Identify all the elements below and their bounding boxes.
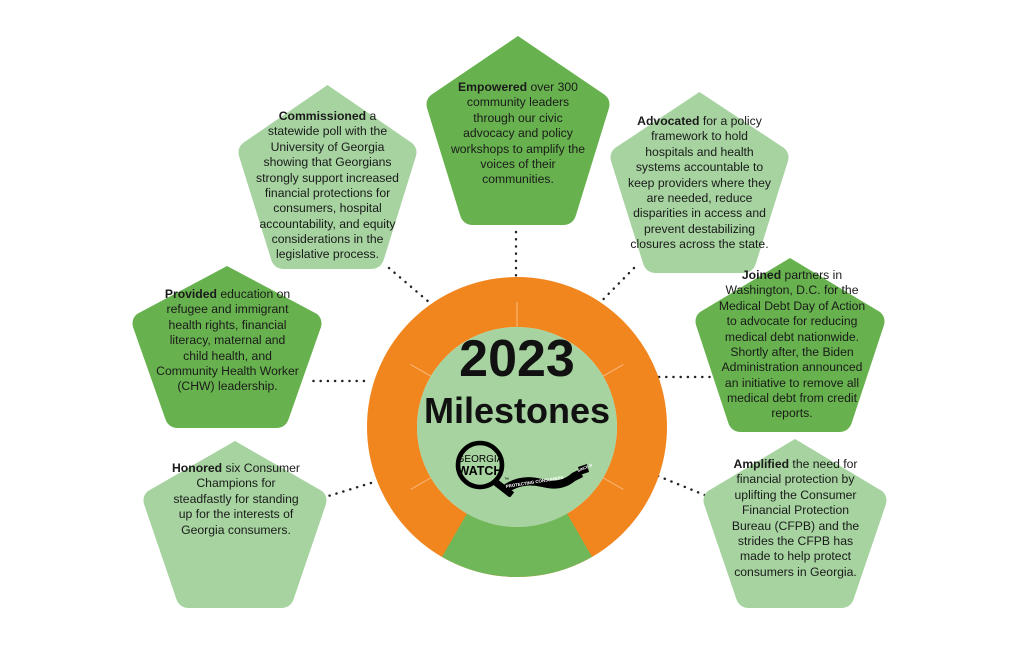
milestone-lead-provided: Provided	[165, 287, 217, 301]
milestone-lead-joined: Joined	[742, 268, 781, 282]
milestone-pentagon-joined[interactable]: Joined partners in Washington, D.C. for …	[692, 254, 888, 439]
hub-year: 2023	[459, 333, 575, 385]
milestone-pentagon-amplified[interactable]: Amplified the need for financial protect…	[700, 435, 890, 615]
milestone-body-commissioned: a statewide poll with the University of …	[256, 109, 399, 261]
milestone-text-provided: Provided education on refugee and immigr…	[156, 287, 299, 395]
milestone-text-commissioned: Commissioned a statewide poll with the U…	[255, 109, 400, 263]
logo-line2: WATCH	[458, 464, 503, 478]
milestone-pentagon-honored[interactable]: Honored six Consumer Champions for stead…	[140, 437, 330, 615]
milestone-text-honored: Honored six Consumer Champions for stead…	[167, 461, 305, 538]
milestone-body-empowered: over 300 community leaders through our c…	[451, 80, 585, 186]
infographic-canvas: Commissioned a statewide poll with the U…	[0, 0, 1024, 652]
milestone-pentagon-provided[interactable]: Provided education on refugee and immigr…	[129, 262, 325, 434]
milestone-lead-commissioned: Commissioned	[279, 109, 366, 123]
milestone-pentagon-commissioned[interactable]: Commissioned a statewide poll with the U…	[235, 81, 420, 276]
milestone-text-joined: Joined partners in Washington, D.C. for …	[718, 268, 866, 422]
georgia-watch-logo: GEORGIA WATCH ™ PROTECTING CONSUMERS SIN…	[442, 439, 592, 497]
milestone-body-joined: partners in Washington, D.C. for the Med…	[719, 268, 865, 420]
milestone-lead-amplified: Amplified	[734, 457, 790, 471]
milestone-lead-advocated: Advocated	[637, 114, 699, 128]
milestone-pentagon-empowered[interactable]: Empowered over 300 community leaders thr…	[423, 32, 613, 232]
milestone-body-amplified: the need for financial protection by upl…	[732, 457, 859, 579]
milestone-text-advocated: Advocated for a policy framework to hold…	[627, 114, 772, 252]
milestone-lead-honored: Honored	[172, 461, 222, 475]
center-hub: 2023 Milestones GEORGIA WATCH ™ PROTECTI…	[367, 277, 667, 577]
hub-text-block: 2023 Milestones GEORGIA WATCH ™ PROTECTI…	[367, 277, 667, 577]
georgia-watch-logo-mark: GEORGIA WATCH ™ PROTECTING CONSUMERS SIN…	[442, 439, 592, 497]
hub-title: Milestones	[424, 393, 610, 429]
logo-trademark: ™	[504, 477, 509, 483]
milestone-body-provided: education on refugee and immigrant healt…	[156, 287, 299, 393]
milestone-body-advocated: for a policy framework to hold hospitals…	[628, 114, 771, 251]
milestone-text-amplified: Amplified the need for financial protect…	[724, 457, 867, 580]
milestone-text-empowered: Empowered over 300 community leaders thr…	[449, 80, 587, 188]
milestone-pentagon-advocated[interactable]: Advocated for a policy framework to hold…	[607, 88, 792, 280]
milestone-lead-empowered: Empowered	[458, 80, 527, 94]
